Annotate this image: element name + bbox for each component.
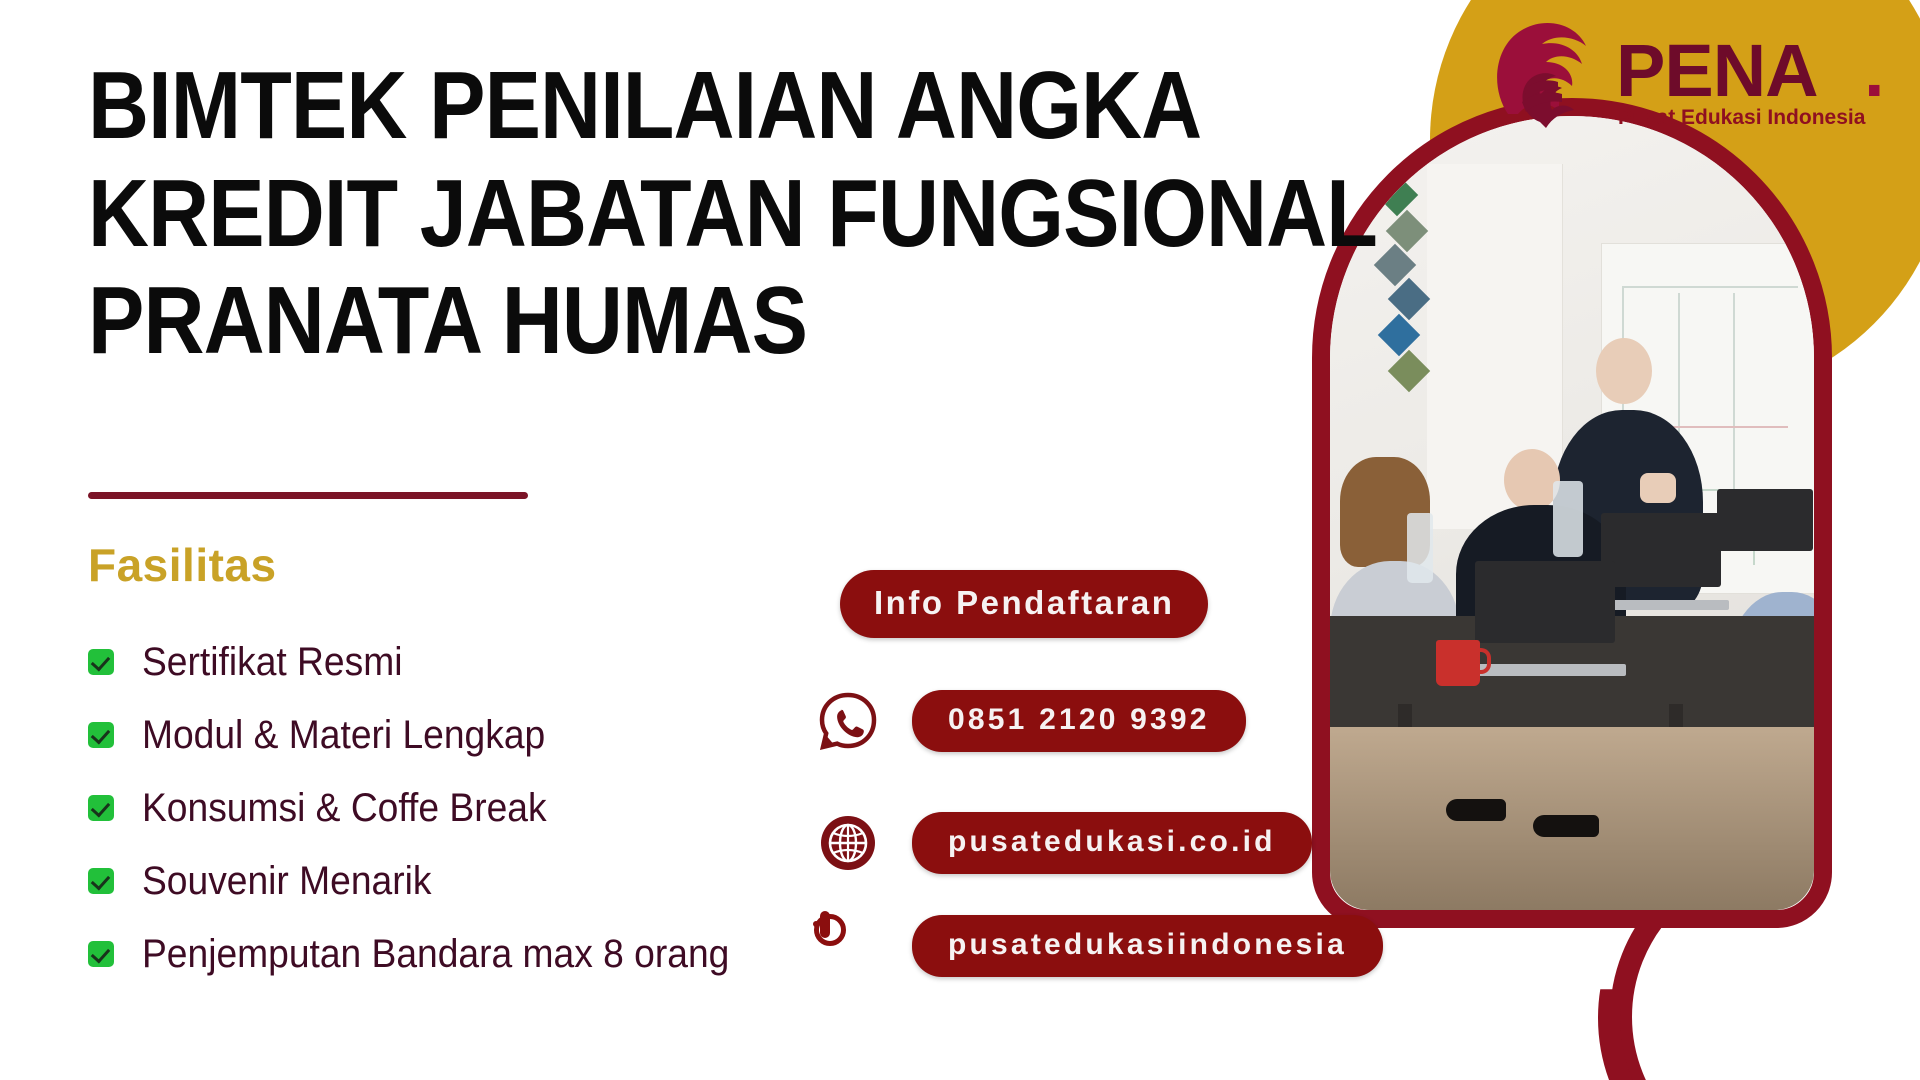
photo-frame: [1312, 98, 1832, 928]
headline-line-1: BIMTEK PENILAIAN ANGKA: [88, 52, 1153, 160]
whatsapp-number[interactable]: 0851 2120 9392: [912, 690, 1246, 752]
check-icon: [88, 868, 114, 894]
logo-dot: .: [1864, 29, 1885, 112]
facility-label: Penjemputan Bandara max 8 orang: [142, 934, 729, 974]
list-item: Konsumsi & Coffe Break: [88, 771, 774, 844]
list-item: Souvenir Menarik: [88, 844, 774, 917]
facility-label: Modul & Materi Lengkap: [142, 715, 545, 755]
logo-tagline: Pusat Edukasi Indonesia: [1618, 106, 1866, 129]
facility-label: Sertifikat Resmi: [142, 642, 402, 682]
pena-logo: PENA . Pusat Edukasi Indonesia: [1488, 18, 1908, 143]
globe-icon[interactable]: [818, 813, 878, 873]
list-item: Modul & Materi Lengkap: [88, 698, 774, 771]
contact-row-instagram[interactable]: pusatedukasiindonesia: [818, 915, 1383, 977]
check-icon: [88, 722, 114, 748]
check-icon: [88, 795, 114, 821]
contact-row-website[interactable]: pusatedukasi.co.id: [818, 812, 1312, 874]
facilities-heading: Fasilitas: [88, 538, 277, 592]
facilities-list: Sertifikat Resmi Modul & Materi Lengkap …: [88, 625, 774, 990]
seminar-photo: [1330, 116, 1814, 910]
divider: [88, 492, 528, 499]
facility-label: Souvenir Menarik: [142, 861, 431, 901]
promotional-banner: PENA . Pusat Edukasi Indonesia: [0, 0, 1920, 1080]
logo-wordmark: PENA: [1616, 29, 1818, 112]
check-icon: [88, 649, 114, 675]
check-icon: [88, 941, 114, 967]
facility-label: Konsumsi & Coffe Break: [142, 788, 547, 828]
headline-line-3: PRANATA HUMAS: [88, 267, 1153, 375]
headline-line-2: KREDIT JABATAN FUNGSIONAL: [88, 160, 1153, 268]
instagram-icon[interactable]: [818, 916, 878, 976]
instagram-handle[interactable]: pusatedukasiindonesia: [912, 915, 1383, 977]
list-item: Sertifikat Resmi: [88, 625, 774, 698]
whatsapp-icon[interactable]: [818, 691, 878, 751]
contact-row-whatsapp[interactable]: 0851 2120 9392: [818, 690, 1246, 752]
website-url[interactable]: pusatedukasi.co.id: [912, 812, 1312, 874]
pena-logo-mark: PENA . Pusat Edukasi Indonesia: [1488, 18, 1908, 138]
list-item: Penjemputan Bandara max 8 orang: [88, 917, 774, 990]
registration-info-heading: Info Pendaftaran: [840, 570, 1208, 638]
page-title: BIMTEK PENILAIAN ANGKA KREDIT JABATAN FU…: [88, 52, 1153, 375]
